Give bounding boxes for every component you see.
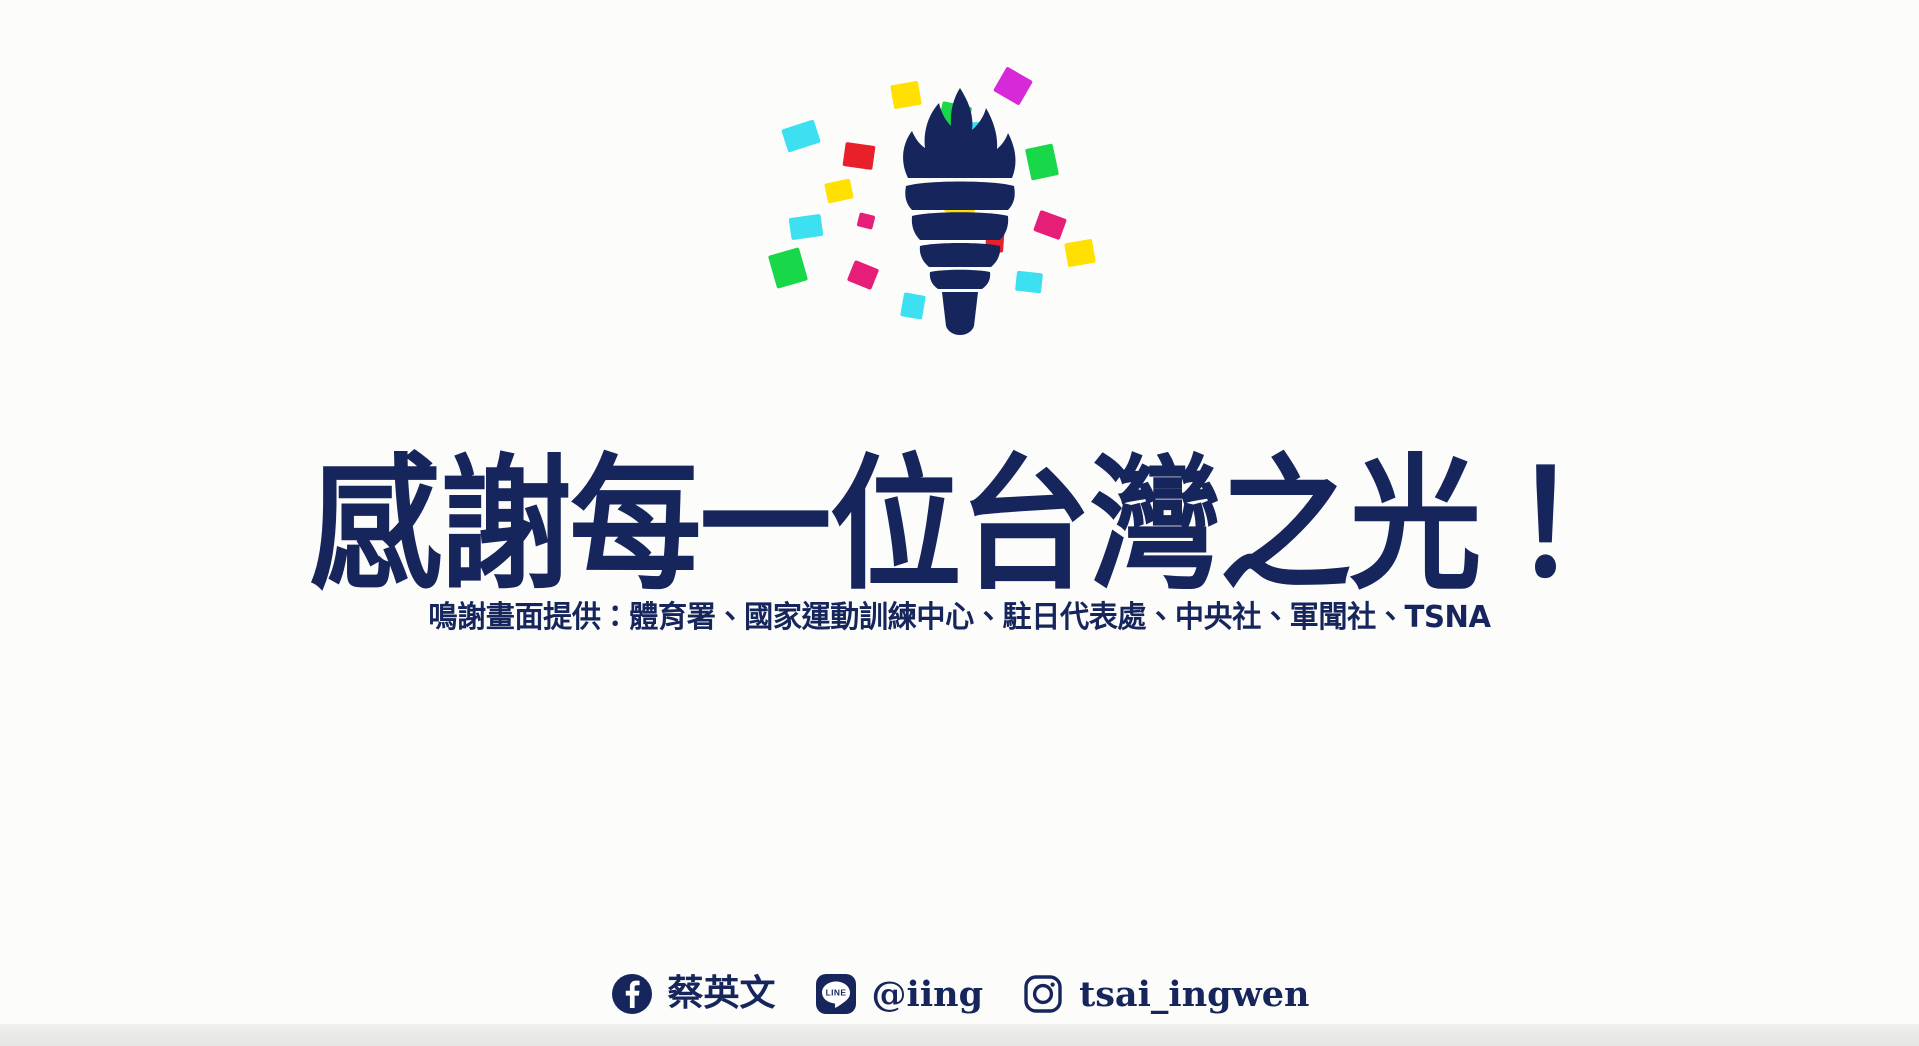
- confetti-piece: [846, 260, 878, 290]
- confetti-piece: [900, 292, 926, 319]
- facebook-icon: [610, 972, 654, 1016]
- confetti-piece: [788, 214, 823, 240]
- confetti-piece: [1015, 271, 1043, 294]
- social-bar: 蔡英文 LINE @iing tsai_ingwen: [0, 972, 1919, 1016]
- line-handle: @iing: [872, 977, 984, 1012]
- headline-block: 感謝每一位台灣之光！ 鳴謝畫面提供：體育署、國家運動訓練中心、駐日代表處、中央社…: [0, 452, 1919, 634]
- svg-text:LINE: LINE: [825, 988, 846, 998]
- confetti-piece: [767, 247, 807, 289]
- instagram-handle: tsai_ingwen: [1079, 977, 1309, 1012]
- social-item-facebook[interactable]: 蔡英文: [610, 972, 776, 1016]
- bottom-edge-strip: [0, 1024, 1919, 1046]
- confetti-piece: [824, 179, 854, 204]
- line-icon: LINE: [814, 972, 858, 1016]
- confetti-piece: [1024, 143, 1058, 180]
- confetti-piece: [781, 119, 821, 152]
- confetti-piece: [842, 142, 875, 170]
- page-title: 感謝每一位台灣之光！: [0, 452, 1919, 600]
- facebook-handle: 蔡英文: [668, 976, 776, 1012]
- confetti-piece: [993, 66, 1033, 105]
- instagram-icon: [1021, 972, 1065, 1016]
- confetti-piece: [1033, 210, 1067, 240]
- torch-emblem: [750, 36, 1170, 336]
- confetti-piece: [856, 212, 875, 229]
- slide-canvas: 感謝每一位台灣之光！ 鳴謝畫面提供：體育署、國家運動訓練中心、駐日代表處、中央社…: [0, 0, 1919, 1046]
- confetti-piece: [890, 81, 922, 109]
- social-item-instagram[interactable]: tsai_ingwen: [1021, 972, 1309, 1016]
- social-item-line[interactable]: LINE @iing: [814, 972, 984, 1016]
- credits-line: 鳴謝畫面提供：體育署、國家運動訓練中心、駐日代表處、中央社、軍聞社、TSNA: [29, 601, 1890, 634]
- confetti-piece: [1064, 239, 1096, 267]
